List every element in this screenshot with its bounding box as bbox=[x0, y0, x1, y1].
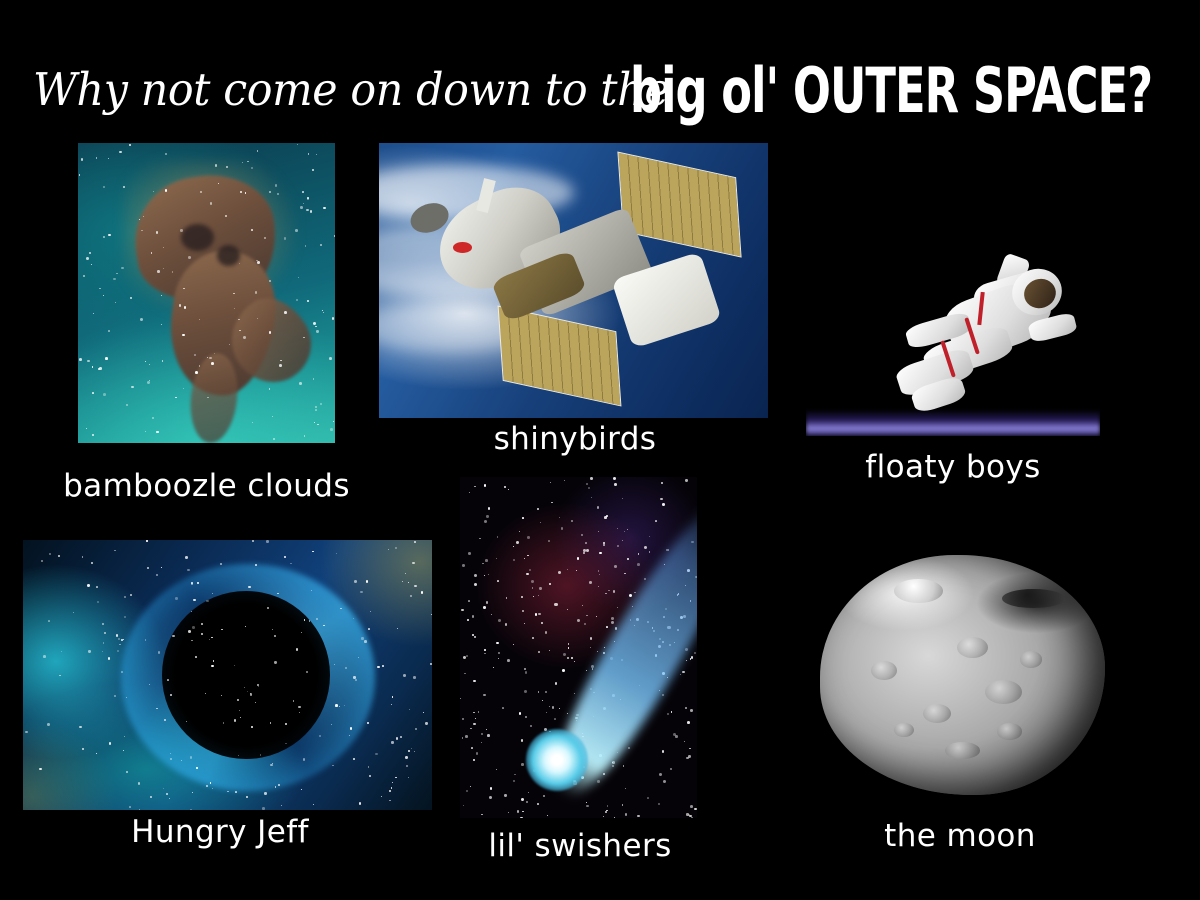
asteroid-body bbox=[820, 555, 1105, 795]
asteroid-crater bbox=[945, 742, 979, 759]
meme-canvas: Why not come on down to the big ol' OUTE… bbox=[0, 0, 1200, 900]
asteroid-crater bbox=[957, 637, 988, 659]
caption-bamboozle-clouds: bamboozle clouds bbox=[0, 468, 413, 504]
meme-title: Why not come on down to the big ol' OUTE… bbox=[0, 60, 1200, 128]
title-impact-part: big ol' OUTER SPACE? bbox=[630, 56, 1152, 128]
asteroid-crater bbox=[997, 723, 1023, 740]
asteroid-bright-crater bbox=[894, 579, 942, 603]
caption-shinybirds: shinybirds bbox=[380, 421, 770, 457]
title-script-part: Why not come on down to the bbox=[33, 62, 669, 118]
asteroid-dark-crater bbox=[1002, 589, 1065, 608]
image-astronaut bbox=[806, 227, 1100, 436]
caption-hungry-jeff: Hungry Jeff bbox=[0, 814, 440, 850]
image-comet bbox=[460, 477, 697, 818]
black-hole-starfield bbox=[23, 540, 432, 810]
caption-floaty-boys: floaty boys bbox=[808, 449, 1098, 485]
comet-coma bbox=[526, 729, 588, 790]
image-asteroid bbox=[800, 545, 1110, 805]
image-nebula bbox=[78, 143, 335, 443]
asteroid-crater bbox=[1020, 651, 1043, 668]
image-black-hole bbox=[23, 540, 432, 810]
asteroid-crater bbox=[923, 704, 952, 723]
asteroid-crater bbox=[871, 661, 897, 680]
caption-lil-swishers: lil' swishers bbox=[450, 828, 710, 864]
earth-limb-glow bbox=[806, 410, 1100, 436]
image-spacecraft bbox=[379, 143, 768, 418]
caption-the-moon: the moon bbox=[810, 818, 1110, 854]
asteroid-crater bbox=[894, 723, 914, 737]
nebula-starfield bbox=[78, 143, 335, 443]
solar-array-lower bbox=[497, 306, 621, 406]
asteroid-crater bbox=[985, 680, 1022, 704]
